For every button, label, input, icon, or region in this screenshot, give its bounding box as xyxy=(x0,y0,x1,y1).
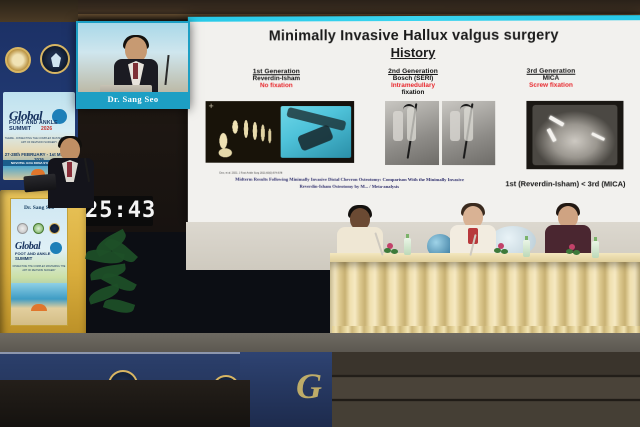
referenced-paper-title: Midterm Results Following Minimally Inva… xyxy=(225,177,474,191)
stage-logo-script: G xyxy=(296,368,322,404)
generation-1-fixation: No fixation xyxy=(210,82,344,89)
speaker-laptop xyxy=(23,174,56,193)
podium-globe-icon xyxy=(50,242,62,254)
decorative-palm-plant xyxy=(84,236,148,346)
video-feed-name-label: Dr. Sang Seo xyxy=(78,92,188,107)
podium-theme-text: DISSECTING THE COMPLEX MASTERING THE ART… xyxy=(11,265,67,273)
generation-1-block: 1st Generation Reverdin-Isham No fixatio… xyxy=(210,68,344,96)
generation-2-block: 2nd Generation Bosch (SERI) Intramedulla… xyxy=(346,68,481,96)
live-video-feed: Dr. Sang Seo xyxy=(76,21,190,109)
podium-umbrella-icon xyxy=(31,304,47,311)
generation-headings-row: 1st Generation Reverdin-Isham No fixatio… xyxy=(196,68,634,97)
speaker-podium: Dr. Sang Seo Global FOOT AND ANKLE SUMMI… xyxy=(0,190,86,340)
flower-arrangement-2 xyxy=(494,243,508,255)
generation-1-image xyxy=(206,101,355,163)
slide-images-row xyxy=(196,101,634,170)
water-bottle-3 xyxy=(592,241,599,258)
backdrop-top-trim xyxy=(0,0,78,22)
screw-fixation-foot-xray xyxy=(532,105,617,165)
podium-event-word: SUMMIT xyxy=(15,256,32,261)
podium-banner: Dr. Sang Seo Global FOOT AND ANKLE SUMMI… xyxy=(10,198,68,326)
slide-title: Minimally Invasive Hallux valgus surgery xyxy=(196,27,634,44)
water-bottle-2 xyxy=(523,240,530,257)
podium-event-logo: Global FOOT AND ANKLE SUMMIT xyxy=(14,241,66,261)
presentation-slide: Minimally Invasive Hallux valgus surgery… xyxy=(188,20,640,226)
projection-screen: Minimally Invasive Hallux valgus surgery… xyxy=(188,15,640,226)
backdrop-event-word: SUMMIT xyxy=(9,126,31,132)
panel-table-skirt xyxy=(330,262,640,334)
foot-bone-illustration xyxy=(206,101,282,163)
water-bottle-1 xyxy=(404,238,411,255)
generation-2-fixation-second-line: fixation xyxy=(346,89,481,96)
slide-subtitle: History xyxy=(196,44,634,60)
flower-arrangement-1 xyxy=(384,243,398,255)
kwire-xray-left xyxy=(385,101,438,165)
sponsor-seal-1-icon xyxy=(17,223,28,234)
podium-sponsor-seals xyxy=(17,223,63,235)
slide-bottom-row: Midterm Results Following Minimally Inva… xyxy=(196,177,634,192)
blue-fluoroscopy-image xyxy=(281,106,351,158)
backdrop-event-year: 2026 xyxy=(41,126,52,132)
stage-steps xyxy=(330,352,640,427)
generation-2-image xyxy=(385,101,495,165)
comparison-statement: 1st (Reverdin-Isham) < 3rd (MICA) xyxy=(505,180,625,189)
generation-3-fixation: Screw fixation xyxy=(483,82,620,89)
panelist-center xyxy=(450,206,496,258)
sponsor-seal-gold-icon xyxy=(5,47,31,73)
conference-hall-scene: Minimally Invasive Hallux valgus surgery… xyxy=(0,0,640,427)
flower-arrangement-3 xyxy=(566,244,580,256)
slide-citation: Doo, et al. 2021. J Foot Ankle Surg 2021… xyxy=(196,172,634,176)
generation-3-image xyxy=(526,101,623,169)
foreground-dark-block xyxy=(0,380,250,427)
sponsor-seal-navy-icon xyxy=(40,44,70,74)
kwire-xray-right xyxy=(442,101,496,165)
generation-3-block: 3rd Generation MICA Screw fixation xyxy=(483,68,620,96)
sponsor-seal-2-icon xyxy=(33,223,44,234)
sponsor-seal-3-icon xyxy=(49,223,60,234)
backdrop-event-logo: Global FOOT AND ANKLE SUMMIT 2026 xyxy=(7,108,71,134)
